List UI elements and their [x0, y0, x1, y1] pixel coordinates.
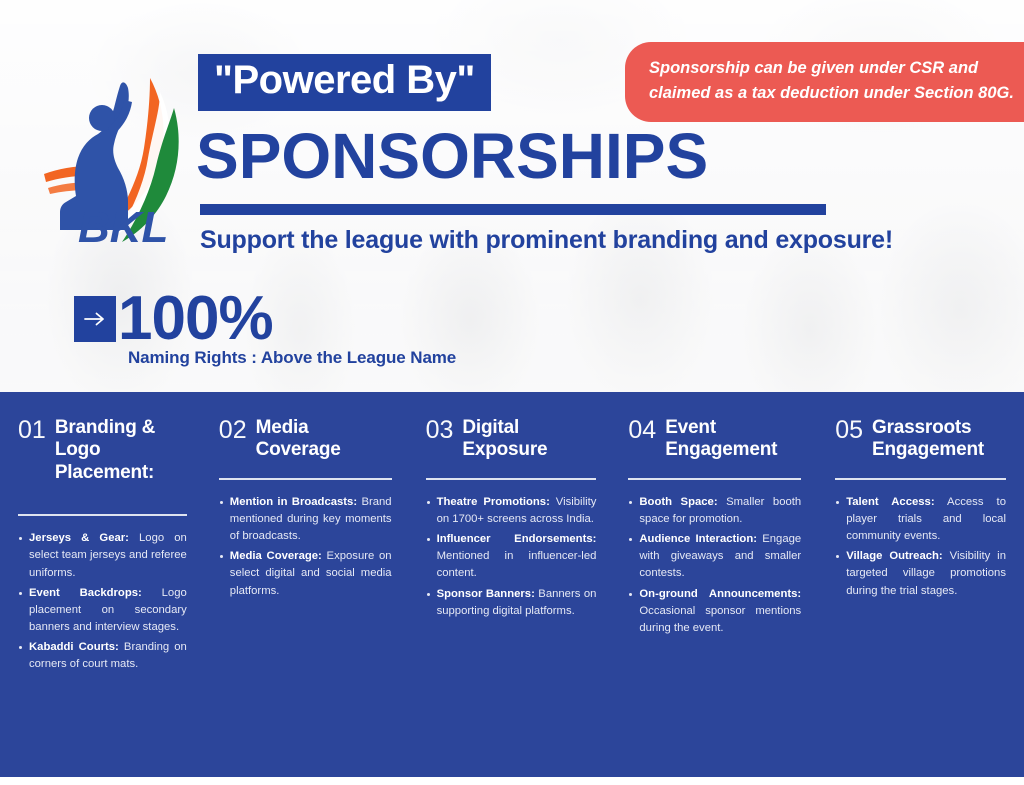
tagline: Support the league with prominent brandi… [200, 226, 893, 255]
card-bullet-list: Mention in Broadcasts: Brand mentioned d… [219, 494, 392, 600]
bullet-label: On-ground Announcements: [639, 588, 801, 600]
card-divider [628, 478, 801, 480]
bullet-label: Jerseys & Gear: [29, 532, 129, 544]
card-title: Event Engagement [665, 417, 801, 462]
list-item: Mention in Broadcasts: Brand mentioned d… [219, 494, 392, 545]
arrow-right-icon [74, 296, 116, 342]
card-header: 04Event Engagement [628, 417, 801, 462]
csr-line-2: claimed as a tax deduction under Section… [649, 81, 1024, 106]
naming-rights-stat: 100% [74, 288, 273, 350]
list-item: Media Coverage: Exposure on select digit… [219, 548, 392, 599]
list-item: Sponsor Banners: Banners on supporting d… [426, 586, 597, 620]
page-title: SPONSORSHIPS [196, 124, 708, 188]
poster-header: BKL "Powered By" SPONSORSHIPS Support th… [0, 0, 1024, 392]
sponsorship-poster: BKL "Powered By" SPONSORSHIPS Support th… [0, 0, 1024, 785]
card-header: 03Digital Exposure [426, 417, 597, 462]
title-underline-bar [200, 204, 826, 215]
benefit-card-01: 01Branding & Logo Placement:Jerseys & Ge… [0, 417, 205, 676]
bullet-label: Village Outreach: [846, 550, 943, 562]
card-header: 05Grassroots Engagement [835, 417, 1006, 462]
bkl-wordmark-text: BKL [78, 203, 168, 250]
card-divider [18, 514, 187, 516]
naming-rights-percent: 100% [118, 288, 273, 350]
list-item: Theatre Promotions: Visibility on 1700+ … [426, 494, 597, 528]
list-item: Jerseys & Gear: Logo on select team jers… [18, 530, 187, 581]
bullet-label: Event Backdrops: [29, 587, 142, 599]
bullet-label: Theatre Promotions: [437, 496, 550, 508]
card-number: 01 [18, 417, 46, 444]
bullet-text: Mentioned in influencer-led content. [437, 550, 597, 579]
benefit-card-03: 03Digital ExposureTheatre Promotions: Vi… [410, 417, 615, 676]
bullet-label: Kabaddi Courts: [29, 641, 119, 653]
card-header: 01Branding & Logo Placement: [18, 417, 187, 484]
bullet-text: Occasional sponsor mentions during the e… [639, 605, 801, 634]
bullet-label: Media Coverage: [230, 550, 322, 562]
bullet-label: Booth Space: [639, 496, 717, 508]
card-header: 02Media Coverage [219, 417, 392, 462]
card-number: 03 [426, 417, 454, 444]
card-title: Grassroots Engagement [872, 417, 1006, 462]
list-item: Village Outreach: Visibility in targeted… [835, 548, 1006, 599]
card-bullet-list: Booth Space: Smaller booth space for pro… [628, 494, 801, 637]
card-bullet-list: Jerseys & Gear: Logo on select team jers… [18, 530, 187, 673]
card-bullet-list: Talent Access: Access to player trials a… [835, 494, 1006, 600]
list-item: Kabaddi Courts: Branding on corners of c… [18, 639, 187, 673]
bullet-label: Mention in Broadcasts: [230, 496, 357, 508]
bottom-white-strip [0, 777, 1024, 785]
card-number: 05 [835, 417, 863, 444]
card-divider [426, 478, 597, 480]
card-title: Branding & Logo Placement: [55, 417, 187, 484]
benefit-card-05: 05Grassroots EngagementTalent Access: Ac… [819, 417, 1024, 676]
list-item: Booth Space: Smaller booth space for pro… [628, 494, 801, 528]
naming-rights-caption: Naming Rights : Above the League Name [128, 348, 456, 368]
bkl-logo: BKL [32, 70, 184, 250]
list-item: Influencer Endorsements: Mentioned in in… [426, 531, 597, 582]
benefit-card-02: 02Media CoverageMention in Broadcasts: B… [205, 417, 410, 676]
card-title: Digital Exposure [462, 417, 596, 462]
bullet-label: Sponsor Banners: [437, 588, 535, 600]
card-divider [835, 478, 1006, 480]
list-item: On-ground Announcements: Occasional spon… [628, 586, 801, 637]
powered-by-badge: "Powered By" [198, 54, 491, 111]
csr-line-1: Sponsorship can be given under CSR and [649, 56, 1024, 81]
benefit-card-04: 04Event EngagementBooth Space: Smaller b… [614, 417, 819, 676]
benefits-panel: 01Branding & Logo Placement:Jerseys & Ge… [0, 392, 1024, 777]
benefit-cards: 01Branding & Logo Placement:Jerseys & Ge… [0, 417, 1024, 676]
card-number: 02 [219, 417, 247, 444]
csr-tax-callout: Sponsorship can be given under CSR and c… [625, 42, 1024, 122]
bullet-label: Talent Access: [846, 496, 934, 508]
card-bullet-list: Theatre Promotions: Visibility on 1700+ … [426, 494, 597, 620]
list-item: Talent Access: Access to player trials a… [835, 494, 1006, 545]
powered-by-text: "Powered By" [214, 60, 475, 101]
card-title: Media Coverage [256, 417, 392, 462]
card-number: 04 [628, 417, 656, 444]
list-item: Event Backdrops: Logo placement on secon… [18, 585, 187, 636]
bullet-label: Audience Interaction: [639, 533, 757, 545]
bullet-label: Influencer Endorsements: [437, 533, 597, 545]
card-divider [219, 478, 392, 480]
list-item: Audience Interaction: Engage with giveaw… [628, 531, 801, 582]
